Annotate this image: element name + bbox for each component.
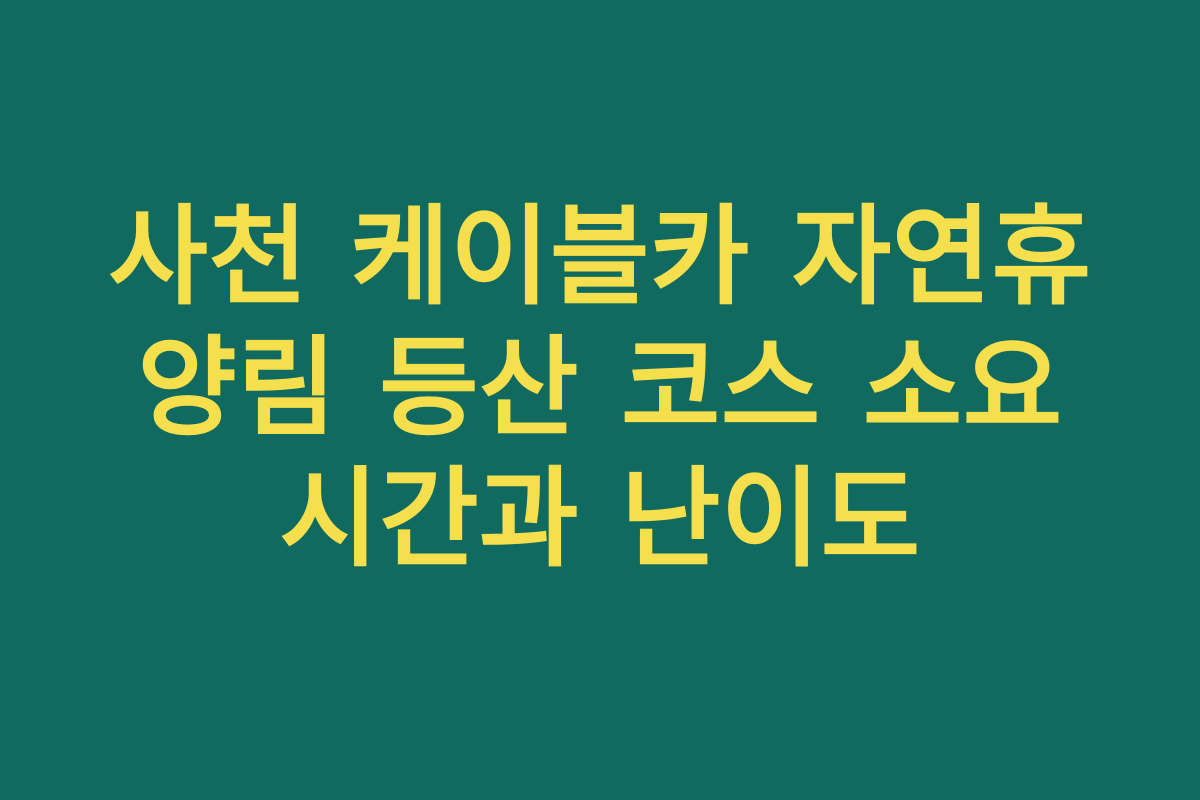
title-card: 사천 케이블카 자연휴양림 등산 코스 소요 시간과 난이도 <box>0 0 1200 800</box>
page-title: 사천 케이블카 자연휴양림 등산 코스 소요 시간과 난이도 <box>95 192 1105 585</box>
